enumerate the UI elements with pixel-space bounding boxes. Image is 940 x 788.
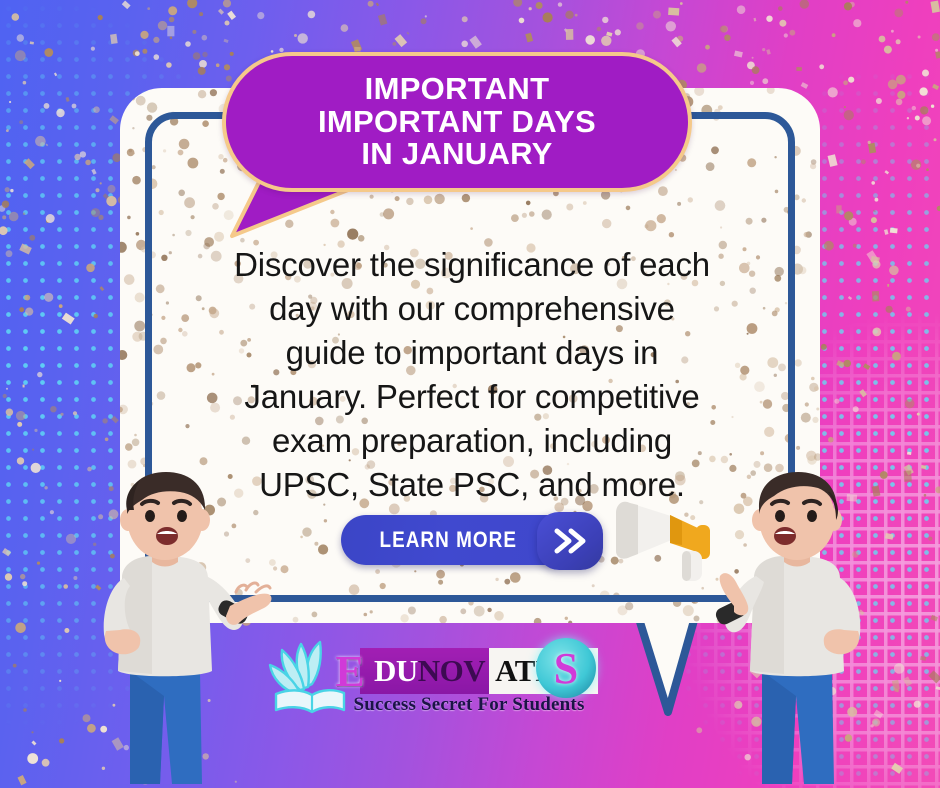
poster-canvas: IMPORTANT IMPORTANT DAYS IN JANUARY Disc… xyxy=(0,0,940,788)
logo-purple-block: DU NOV xyxy=(360,648,489,694)
logo-tagline: Success Secret For Students xyxy=(330,694,608,716)
poster-title: IMPORTANT IMPORTANT DAYS IN JANUARY xyxy=(318,73,596,172)
title-bubble: IMPORTANT IMPORTANT DAYS IN JANUARY xyxy=(222,52,692,192)
body-line-3: guide to important days in xyxy=(196,331,748,375)
logo-letter-s: S xyxy=(554,643,578,694)
student-character-left xyxy=(60,466,275,788)
title-line-2: IMPORTANT DAYS xyxy=(318,106,596,139)
body-line-4: January. Perfect for competitive xyxy=(196,375,748,419)
brand-logo[interactable]: E DU NOV ATION S Success Secret For Stud… xyxy=(268,634,608,734)
title-line-1: IMPORTANT xyxy=(318,73,596,106)
logo-text-nov: NOV xyxy=(418,653,485,689)
body-line-1: Discover the significance of each xyxy=(196,243,748,287)
title-line-3: IN JANUARY xyxy=(318,138,596,171)
double-chevron-right-icon xyxy=(550,526,590,556)
body-line-2: day with our comprehensive xyxy=(196,287,748,331)
logo-text-du: DU xyxy=(374,653,418,689)
student-character-right xyxy=(690,466,905,788)
logo-s-circle: S xyxy=(536,638,596,698)
cta-label: LEARN MORE xyxy=(373,527,524,553)
logo-letter-e: E xyxy=(326,648,374,694)
cta-arrow-box[interactable] xyxy=(537,512,603,570)
body-line-5: exam preparation, including xyxy=(196,419,748,463)
body-copy: Discover the significance of each day wi… xyxy=(196,243,748,507)
learn-more-button[interactable]: LEARN MORE xyxy=(341,512,603,568)
